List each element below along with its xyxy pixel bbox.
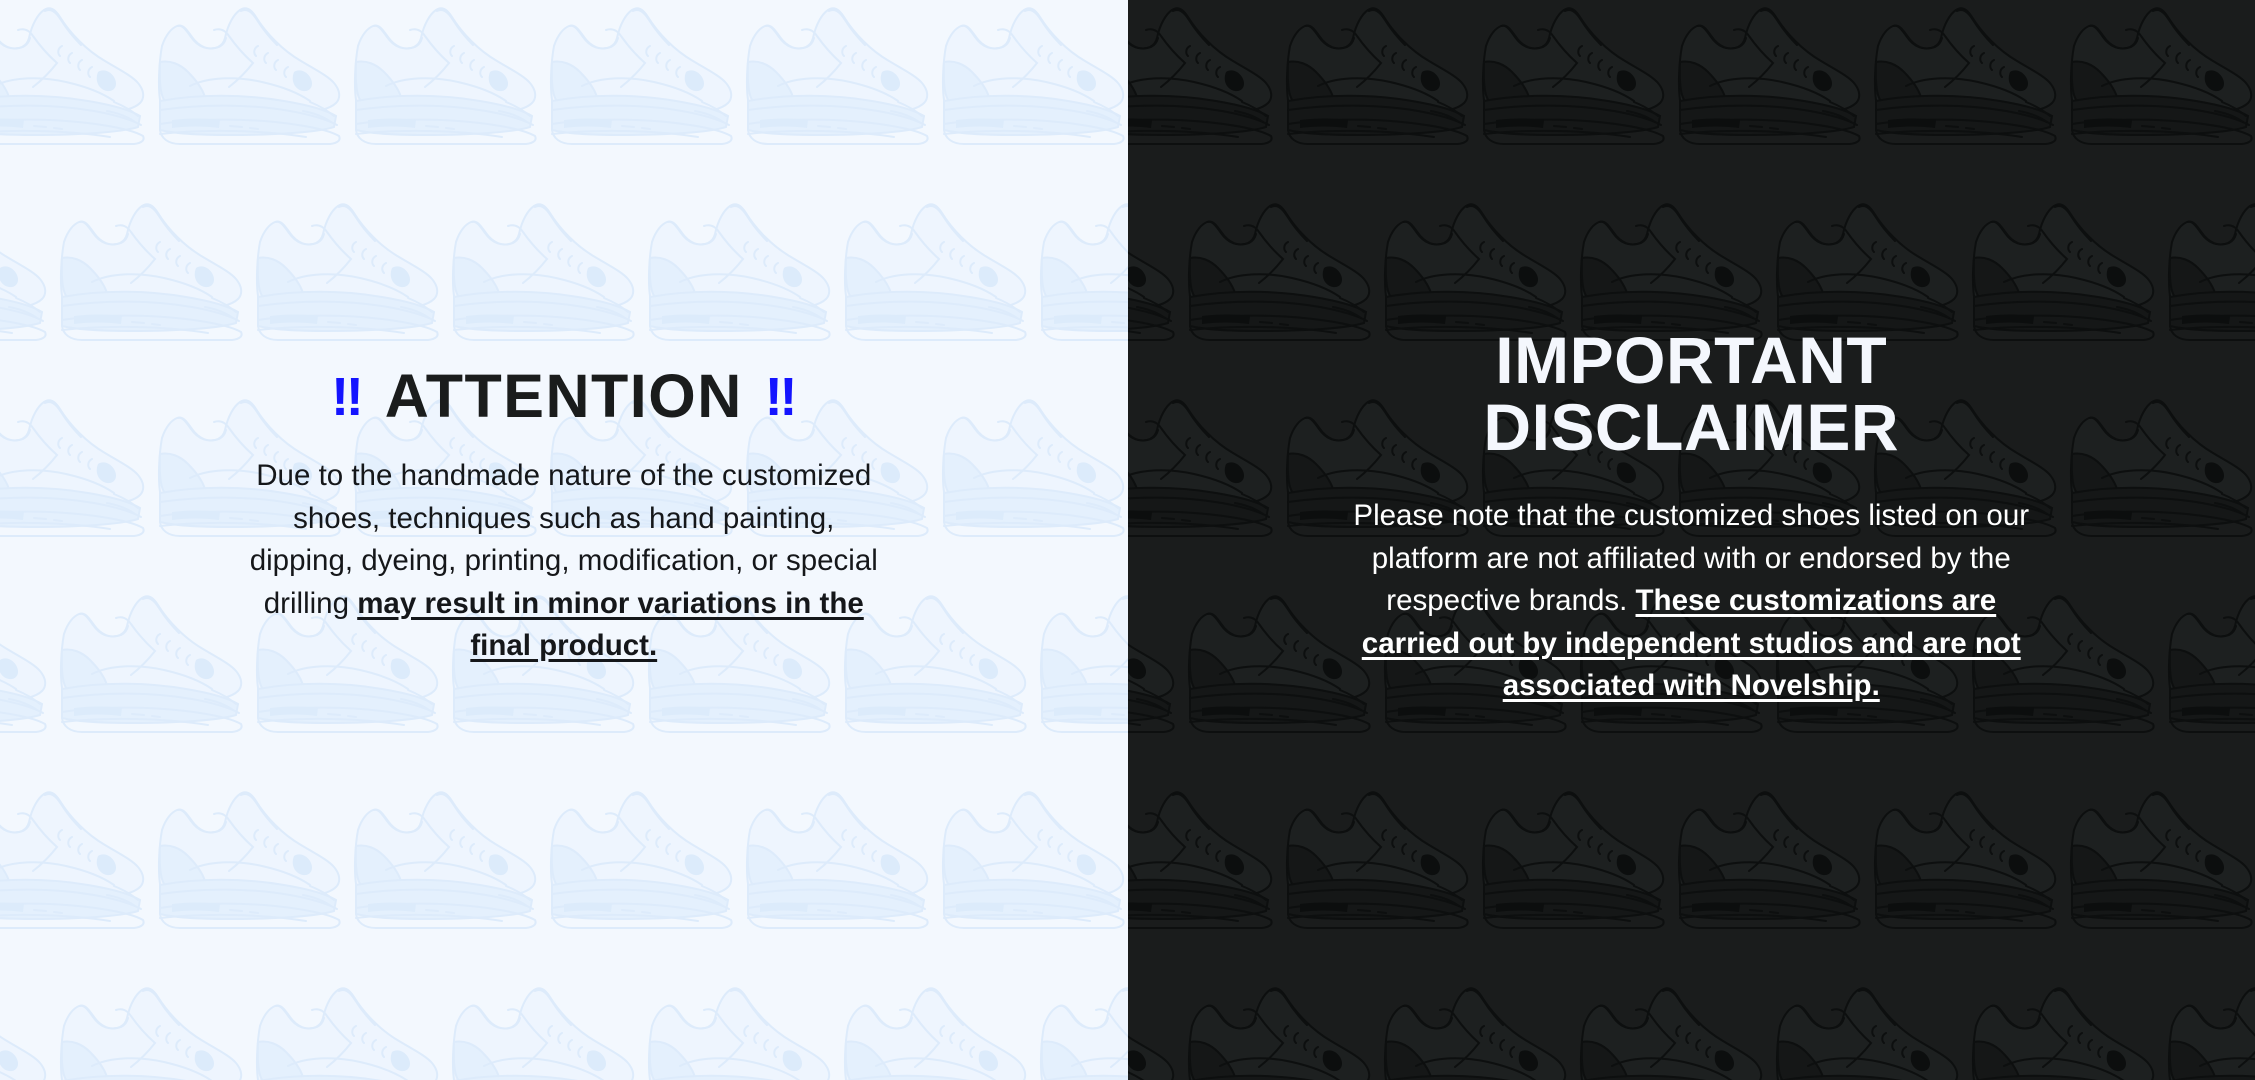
attention-panel: ‼ATTENTION‼ Due to the handmade nature o… <box>0 0 1128 1080</box>
attention-content: ‼ATTENTION‼ Due to the handmade nature o… <box>149 366 979 667</box>
attention-word: ATTENTION <box>385 362 743 430</box>
disclaimer-title-line2: DISCLAIMER <box>1483 390 1899 464</box>
disclaimer-content: IMPORTANT DISCLAIMER Please note that th… <box>1276 327 2106 708</box>
promo-banner: ‼ATTENTION‼ Due to the handmade nature o… <box>0 0 2255 1080</box>
disclaimer-panel: IMPORTANT DISCLAIMER Please note that th… <box>1128 0 2255 1080</box>
page-title-disclaimer: IMPORTANT DISCLAIMER <box>1276 327 2106 462</box>
double-exclamation-icon-left: ‼ <box>331 367 363 427</box>
page-title-attention: ‼ATTENTION‼ <box>149 366 979 427</box>
disclaimer-body: Please note that the customized shoes li… <box>1346 495 2036 707</box>
double-exclamation-icon-right: ‼ <box>765 367 797 427</box>
attention-body-emphasis: may result in minor variations in the fi… <box>357 587 864 662</box>
attention-body: Due to the handmade nature of the custom… <box>244 455 884 667</box>
disclaimer-title-line1: IMPORTANT <box>1495 323 1887 397</box>
